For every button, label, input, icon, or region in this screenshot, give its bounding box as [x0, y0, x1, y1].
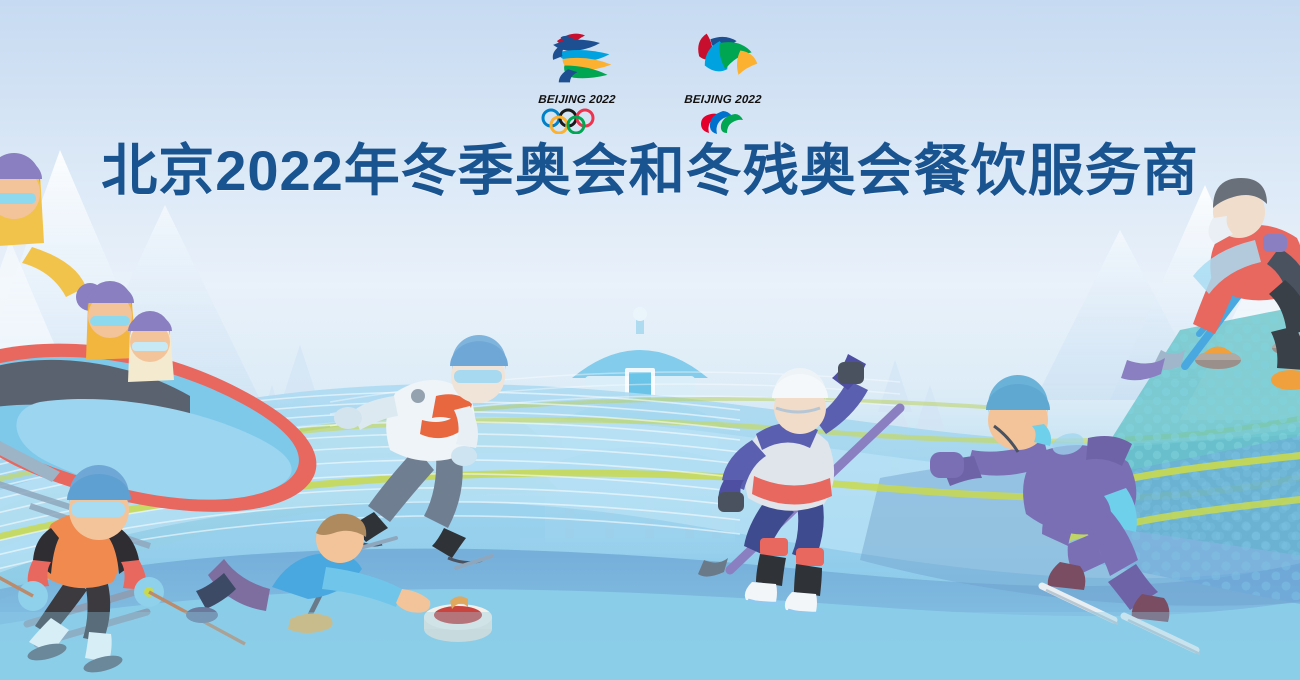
- emblem-row: BEIJING 2022 BEIJING 2022: [0, 28, 1300, 139]
- paralympic-emblem: BEIJING 2022: [671, 28, 775, 139]
- olympic-emblem: BEIJING 2022: [525, 28, 629, 139]
- page-title: 北京2022年冬季奥会和冬残奥会餐饮服务商: [0, 143, 1300, 199]
- olympic-emblem-icon: [525, 28, 638, 88]
- paralympic-wordmark: BEIJING 2022: [671, 94, 776, 106]
- olympic-wordmark: BEIJING 2022: [525, 94, 630, 106]
- beijing-2022-banner: BEIJING 2022 BEIJING 2022: [0, 0, 1300, 680]
- olympic-rings-icon: [527, 108, 627, 134]
- paralympic-emblem-icon: [671, 28, 784, 88]
- agitos-icon: [673, 108, 773, 134]
